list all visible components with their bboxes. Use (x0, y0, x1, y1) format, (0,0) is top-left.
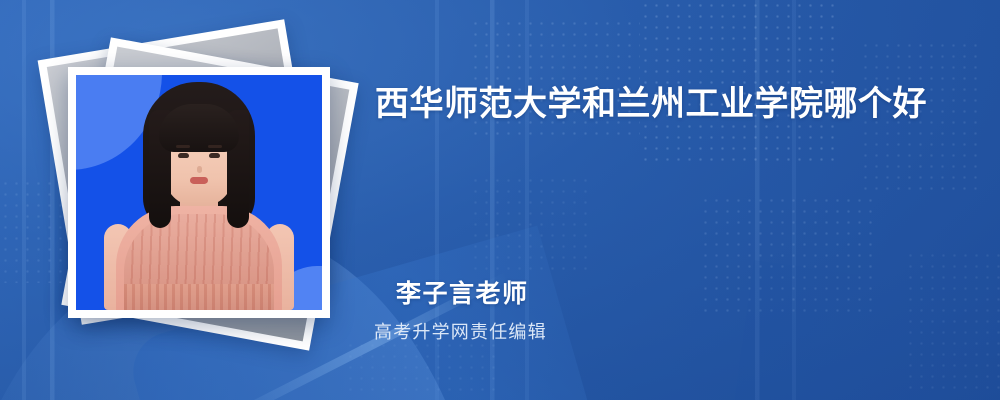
portrait-figure (76, 75, 322, 310)
portrait-lips (190, 177, 208, 184)
text-column: 西华师范大学和兰州工业学院哪个好 李子言老师 高考升学网责任编辑 (372, 0, 972, 400)
banner-title: 西华师范大学和兰州工业学院哪个好 (375, 76, 955, 132)
portrait-dress-waistband (124, 284, 274, 310)
portrait-nose (197, 166, 202, 173)
portrait-eye-left (178, 153, 189, 158)
author-role: 高考升学网责任编辑 (374, 318, 547, 344)
banner-image: 西华师范大学和兰州工业学院哪个好 李子言老师 高考升学网责任编辑 (0, 0, 1000, 400)
photo-card-stack (40, 30, 360, 370)
portrait-hair-top (159, 104, 239, 152)
author-name: 李子言老师 (396, 274, 529, 310)
photo-card-front (68, 67, 330, 318)
portrait-eyebrow-left (176, 145, 190, 148)
portrait-eyebrow-right (208, 145, 222, 148)
portrait-eye-right (209, 153, 220, 158)
author-portrait-photo (76, 75, 322, 310)
